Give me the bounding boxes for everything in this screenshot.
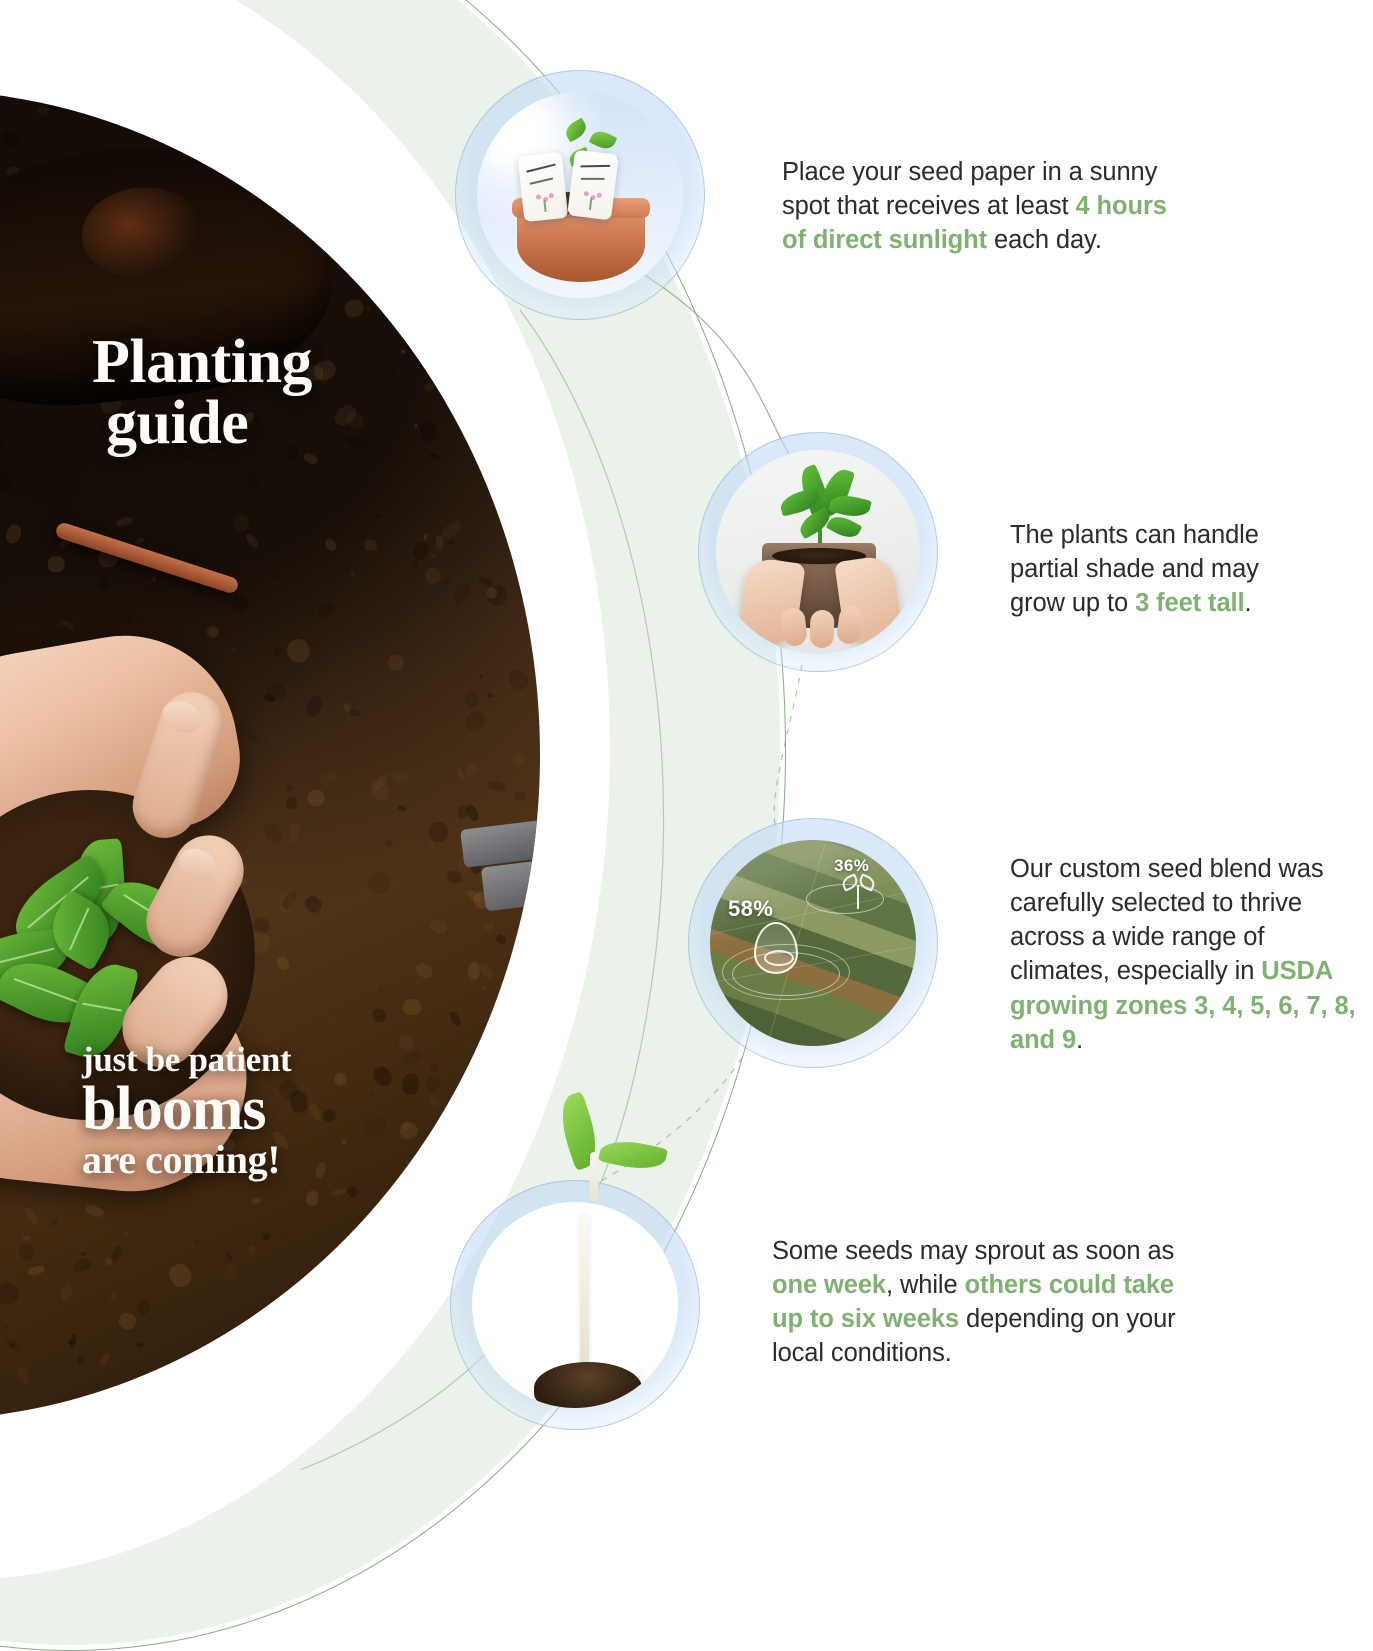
page-title: Planting guide (92, 332, 512, 454)
sprout-leaf (562, 118, 589, 143)
bubble-farmland-data: 36% 58% (688, 818, 938, 1068)
body-text: , while (886, 1271, 965, 1299)
bubble-photo: 36% 58% (710, 840, 916, 1046)
sun-ray (491, 114, 611, 117)
page-title-line-1: Planting (92, 328, 312, 396)
cotyledon-leaf (598, 1135, 668, 1174)
hud-value-sprout: 36% (834, 856, 869, 876)
finger (809, 610, 834, 649)
body-text: each day. (987, 226, 1102, 254)
body-text: . (1076, 1026, 1083, 1054)
page-title-line-2: guide (106, 393, 512, 454)
sprout-leaf (589, 128, 618, 153)
seed-paper-card (567, 150, 619, 221)
hero-footer-line-3: are coming! (82, 1140, 512, 1180)
bubble-potted-plant (698, 432, 938, 672)
sprout-icon (842, 874, 876, 910)
bubble-photo (472, 1202, 678, 1408)
bubble-germinating-seed (450, 1180, 700, 1430)
bubble-photo (716, 450, 920, 654)
planting-guide-infographic: Planting guide just be patient blooms ar… (0, 0, 1373, 1500)
bubble-photo (477, 92, 683, 298)
step-text-height: The plants can handle partial shade and … (1010, 518, 1300, 620)
hero-footer-line-1: just be patient (82, 1042, 512, 1077)
hero-footer-text: just be patient blooms are coming! (82, 1042, 512, 1180)
flower-icon (534, 193, 558, 213)
sun-ray (477, 115, 492, 233)
soil-mound (534, 1362, 642, 1408)
body-text: . (1245, 589, 1252, 617)
step-text-zones: Our custom seed blend was carefully sele… (1010, 852, 1370, 1057)
sprout-leaves-overflow (556, 1090, 676, 1200)
water-drop-icon (754, 922, 798, 974)
sprout-stem-upper (590, 1152, 598, 1202)
sprout-stem (580, 1212, 589, 1380)
seed-paper-card (518, 152, 569, 222)
step-text-germination: Some seeds may sprout as soon as one wee… (772, 1234, 1192, 1371)
highlight-text: one week (772, 1271, 886, 1299)
hero-soil-photo (0, 90, 540, 1420)
hud-value-water: 58% (728, 896, 773, 922)
flower-icon (580, 191, 604, 212)
step-text-sunlight: Place your seed paper in a sunny spot th… (782, 155, 1187, 257)
highlight-text: 3 feet tall (1135, 589, 1244, 617)
body-text: Some seeds may sprout as soon as (772, 1237, 1174, 1265)
bubble-seed-paper (455, 70, 705, 320)
plant-leaf (826, 512, 863, 543)
hero-footer-line-2: blooms (82, 1081, 512, 1138)
